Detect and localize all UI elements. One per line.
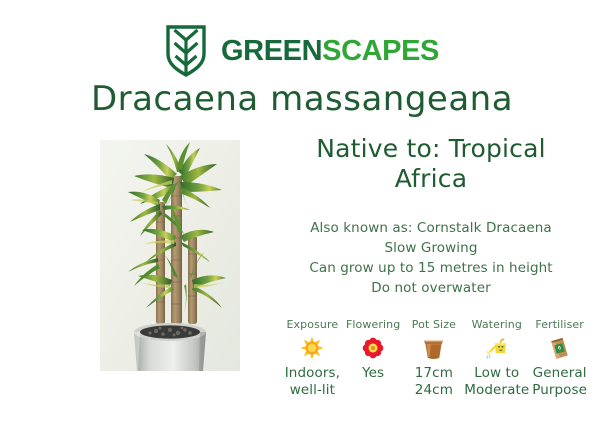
care-column-flowering: Flowering Yes	[343, 318, 404, 382]
fact-growth-rate: Slow Growing	[272, 239, 590, 259]
care-header-fertiliser: Fertiliser	[535, 318, 584, 331]
native-line-1: Native to: Tropical	[272, 134, 590, 164]
plant-info-column: Native to: Tropical Africa Also known as…	[272, 134, 590, 298]
care-value-fertiliser: General Purpose	[532, 365, 587, 399]
care-value-flowering: Yes	[362, 365, 384, 382]
care-value-pot-size-line2: 24cm	[415, 382, 453, 399]
native-line-2: Africa	[272, 164, 590, 194]
care-value-flowering-line1: Yes	[362, 365, 384, 382]
brand-wordmark-scapes: SCAPES	[322, 35, 439, 67]
care-value-exposure-line2: well-lit	[285, 382, 340, 399]
care-header-pot-size: Pot Size	[412, 318, 456, 331]
care-value-fertiliser-line1: General	[532, 365, 587, 382]
care-column-exposure: Exposure Indoors, well-lit	[282, 318, 343, 399]
care-column-fertiliser: Fertiliser General Purpose	[529, 318, 590, 399]
care-column-pot-size: Pot Size 17cm 24cm	[404, 318, 465, 399]
fact-watering-warning: Do not overwater	[272, 279, 590, 299]
brand-header: GREENSCAPES	[0, 22, 604, 80]
brand-wordmark-green: GREEN	[221, 35, 322, 67]
care-value-pot-size-line1: 17cm	[415, 365, 453, 382]
care-column-watering: Watering Low to Moderate	[464, 318, 529, 399]
care-header-flowering: Flowering	[346, 318, 400, 331]
fact-max-height: Can grow up to 15 metres in height	[272, 259, 590, 279]
care-value-watering-line1: Low to	[464, 365, 529, 382]
care-requirements-table: Exposure Indoors, well-lit	[282, 318, 590, 399]
care-value-exposure-line1: Indoors,	[285, 365, 340, 382]
plant-pot-icon	[421, 334, 446, 362]
care-value-watering: Low to Moderate	[464, 365, 529, 399]
fact-also-known-as: Also known as: Cornstalk Dracaena	[272, 219, 590, 239]
flower-icon	[362, 334, 384, 362]
plant-photo	[100, 140, 240, 371]
care-value-fertiliser-line2: Purpose	[532, 382, 587, 399]
native-region: Native to: Tropical Africa	[272, 134, 590, 193]
care-header-watering: Watering	[472, 318, 522, 331]
plant-facts-list: Also known as: Cornstalk Dracaena Slow G…	[272, 219, 590, 298]
care-header-exposure: Exposure	[287, 318, 339, 331]
watering-can-icon	[484, 334, 510, 362]
care-value-exposure: Indoors, well-lit	[285, 365, 340, 399]
page-title: Dracaena massangeana	[0, 82, 604, 118]
care-value-watering-line2: Moderate	[464, 382, 529, 399]
sun-icon	[300, 334, 324, 362]
care-value-pot-size: 17cm 24cm	[415, 365, 453, 399]
shield-leaf-logo-icon	[165, 24, 207, 78]
brand-wordmark: GREENSCAPES	[221, 37, 439, 66]
fertiliser-bag-icon	[548, 334, 571, 362]
